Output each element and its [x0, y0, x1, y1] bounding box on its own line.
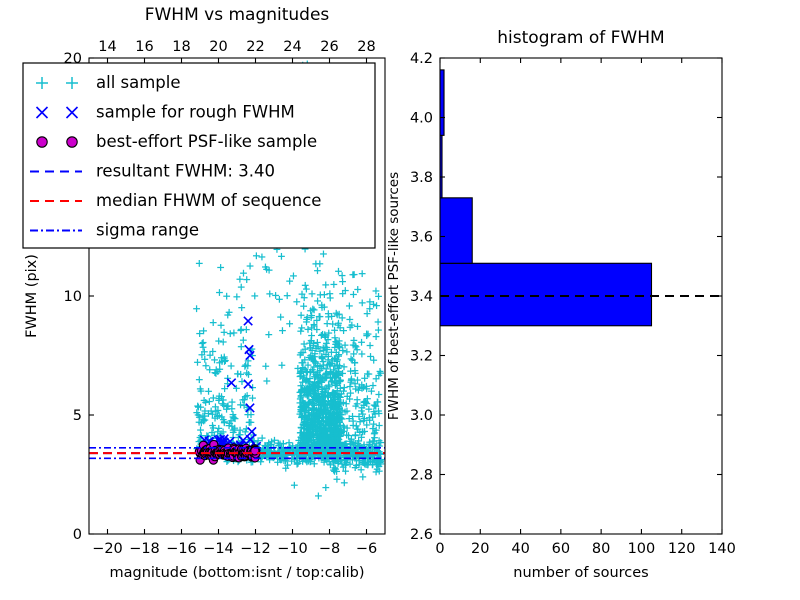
y-tick-label: 3.2 — [410, 349, 433, 365]
y-tick-label: 4.0 — [410, 111, 433, 127]
legend-label: best-effort PSF-like sample — [96, 132, 317, 151]
y-tick-label: 0 — [73, 527, 82, 543]
legend-label: median FHWM of sequence — [96, 191, 321, 210]
x-tick-label: −16 — [166, 541, 197, 557]
right-xaxis-label: number of sources — [513, 565, 649, 581]
circle-marker — [67, 137, 77, 147]
top-x-tick-label: 24 — [283, 39, 301, 55]
y-tick-label: 3.4 — [410, 289, 433, 305]
x-tick-label: −10 — [277, 541, 308, 557]
x-tick-label: 40 — [511, 541, 529, 557]
top-x-tick-label: 26 — [320, 39, 338, 55]
x-tick-label: 100 — [628, 541, 656, 557]
top-x-tick-label: 18 — [172, 39, 190, 55]
top-x-tick-label: 22 — [246, 39, 264, 55]
legend-label: resultant FWHM: 3.40 — [96, 162, 275, 181]
right-yaxis-label: FWHM of best-effort PSF-like sources — [386, 172, 402, 420]
x-tick-label: −8 — [319, 541, 340, 557]
left-xaxis-label: magnitude (bottom:isnt / top:calib) — [109, 565, 364, 581]
legend[interactable]: all samplesample for rough FWHMbest-effo… — [23, 63, 375, 248]
x-tick-label: −6 — [356, 541, 377, 557]
matplotlib-figure: FWHM vs magnitudes −20−18−16−14−12−10−8−… — [0, 0, 800, 600]
x-tick-label: −18 — [129, 541, 160, 557]
left-panel-title: FWHM vs magnitudes — [145, 5, 330, 25]
y-tick-label: 4.2 — [410, 51, 433, 67]
y-tick-label: 10 — [64, 289, 82, 305]
y-tick-label: 2.6 — [410, 527, 433, 543]
x-tick-label: 80 — [592, 541, 610, 557]
y-tick-label: 3.8 — [410, 170, 433, 186]
right-panel-title: histogram of FWHM — [497, 28, 664, 48]
x-tick-label: 20 — [471, 541, 489, 557]
figure-canvas: FWHM vs magnitudes −20−18−16−14−12−10−8−… — [0, 0, 800, 600]
x-tick-label: 0 — [435, 541, 444, 557]
left-yaxis-label: FWHM (pix) — [24, 254, 40, 338]
x-tick-label: 140 — [708, 541, 736, 557]
legend-label: all sample — [96, 73, 181, 92]
y-tick-label: 2.8 — [410, 468, 433, 484]
x-tick-label: −20 — [92, 541, 123, 557]
x-tick-label: 60 — [552, 541, 570, 557]
x-tick-label: −14 — [203, 541, 234, 557]
top-x-tick-label: 28 — [357, 39, 375, 55]
histogram-bar — [440, 198, 472, 263]
legend-label: sample for rough FWHM — [96, 103, 295, 122]
y-tick-label: 5 — [73, 408, 82, 424]
top-x-tick-label: 20 — [209, 39, 227, 55]
y-tick-label: 3.6 — [410, 230, 433, 246]
top-x-tick-label: 14 — [98, 39, 116, 55]
legend-label: sigma range — [96, 221, 199, 240]
x-tick-label: −12 — [240, 541, 271, 557]
top-x-tick-label: 16 — [135, 39, 153, 55]
histogram-bar — [440, 70, 444, 135]
histogram-bar — [440, 263, 652, 325]
circle-marker — [37, 137, 47, 147]
y-tick-label: 3.0 — [410, 408, 433, 424]
x-tick-label: 120 — [668, 541, 696, 557]
